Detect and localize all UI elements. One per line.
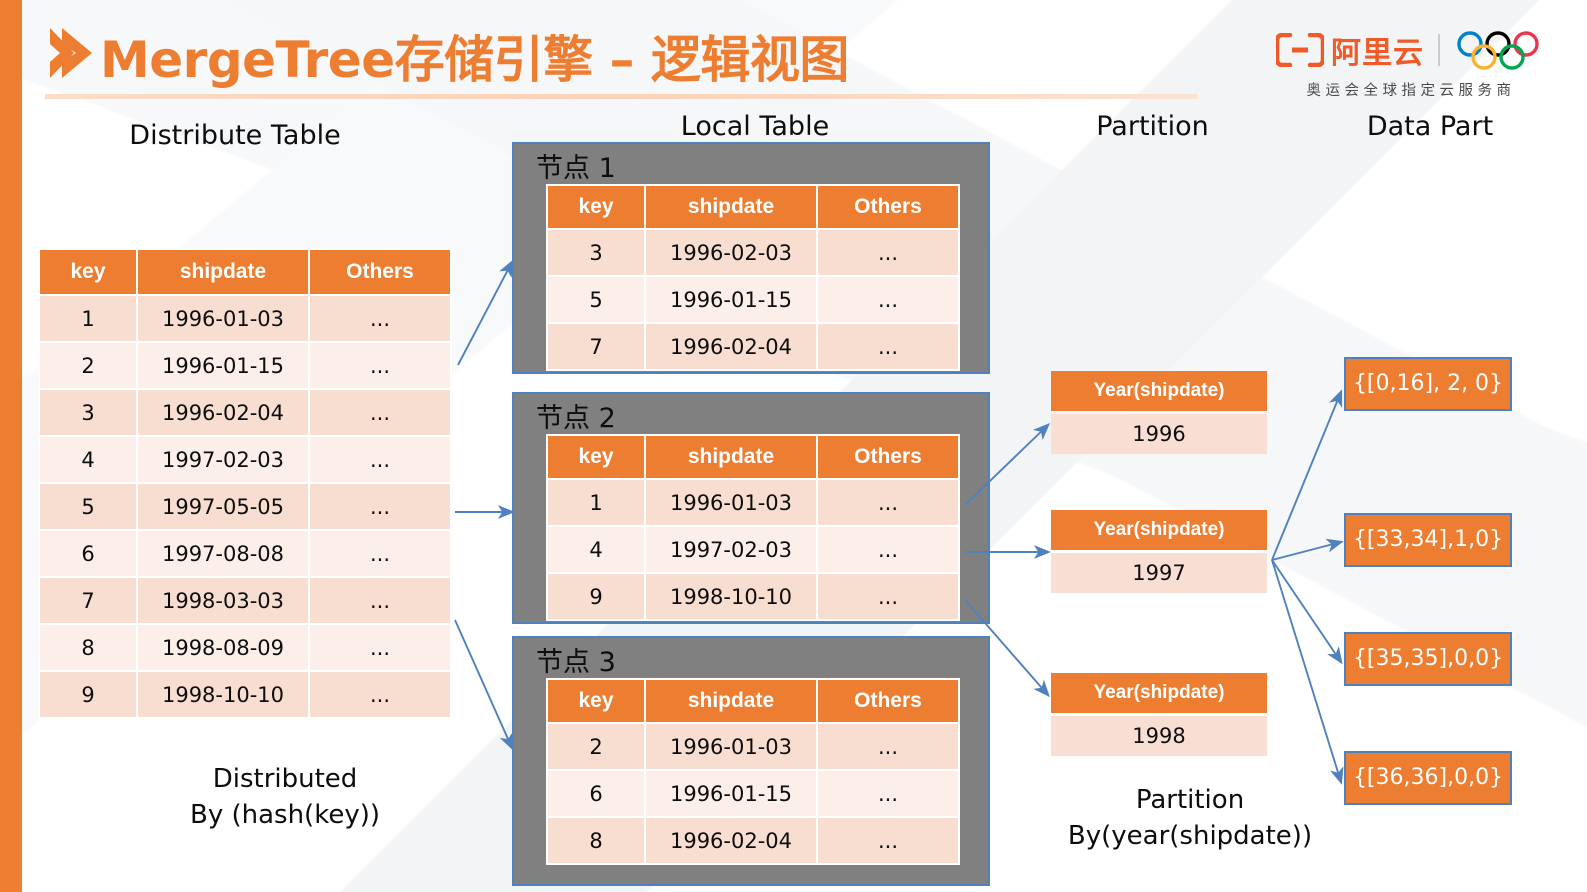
table-header-row: keyshipdateOthers [547,435,959,479]
table-cell: 1996-01-03 [645,479,817,526]
node-table-body-2: 11996-01-03...41997-02-03...91998-10-10.… [547,479,959,620]
table-cell: 3 [547,229,645,276]
partition-header: Year(shipdate) [1051,510,1267,550]
column-header-others: Others [817,679,959,723]
partition-header: Year(shipdate) [1051,673,1267,713]
table-row: 51997-05-05... [39,483,451,530]
node-box-1: 节点 1 keyshipdateOthers 31996-02-03...519… [512,142,990,374]
table-cell: ... [309,295,451,342]
partition-value: 1997 [1051,553,1267,593]
table-cell: 7 [39,577,137,624]
table-cell: 1997-02-03 [137,436,309,483]
table-cell: ... [817,573,959,620]
heading-local-table: Local Table [620,111,890,142]
data-part-chip: {[0,16], 2, 0} [1344,357,1512,411]
table-cell: 6 [547,770,645,817]
heading-partition: Partition [1030,111,1275,142]
node-table-2: keyshipdateOthers 11996-01-03...41997-02… [546,434,960,621]
heading-data-part: Data Part [1330,111,1530,142]
node-table-body-1: 31996-02-03...51996-01-15...71996-02-04.… [547,229,959,370]
table-cell: 3 [39,389,137,436]
data-part-chip: {[36,36],0,0} [1344,751,1512,805]
table-cell: ... [309,342,451,389]
table-cell: 1997-08-08 [137,530,309,577]
column-header-shipdate: shipdate [645,435,817,479]
table-cell: 9 [39,671,137,718]
table-cell: 8 [39,624,137,671]
table-row: 41997-02-03... [547,526,959,573]
caption-distributed-by: Distributed By (hash(key)) [120,762,450,834]
table-cell: 1996-02-03 [645,229,817,276]
brand-name: 阿里云 [1331,28,1424,72]
column-header-key: key [547,435,645,479]
table-cell: ... [817,479,959,526]
table-row: 71996-02-04... [547,323,959,370]
table-row: 61996-01-15... [547,770,959,817]
heading-distribute-table: Distribute Table [110,120,360,151]
table-row: 21996-01-03... [547,723,959,770]
partition-value: 1998 [1051,716,1267,756]
table-cell: 1998-10-10 [137,671,309,718]
table-header-row: keyshipdateOthers [547,185,959,229]
table-cell: 6 [39,530,137,577]
partition-value: 1996 [1051,414,1267,454]
node-table-3: keyshipdateOthers 21996-01-03...61996-01… [546,678,960,865]
table-cell: ... [817,229,959,276]
table-row: 91998-10-10... [547,573,959,620]
table-cell: 1996-01-15 [137,342,309,389]
table-header-row: keyshipdateOthers [39,249,451,295]
partition-box-1997: Year(shipdate) 1997 [1051,510,1267,593]
column-header-key: key [547,185,645,229]
node-table-1: keyshipdateOthers 31996-02-03...51996-01… [546,184,960,371]
caption-partition-by: Partition By(year(shipdate)) [1040,783,1340,855]
olympic-rings-icon [1454,29,1546,71]
brand-divider [1438,34,1440,66]
table-cell: 8 [547,817,645,864]
title-underline [45,94,1197,99]
column-header-others: Others [817,435,959,479]
table-row: 31996-02-03... [547,229,959,276]
table-cell: 1996-01-15 [645,770,817,817]
table-cell: 1996-01-03 [645,723,817,770]
table-cell: ... [817,323,959,370]
column-header-shipdate: shipdate [645,679,817,723]
node-table-body-3: 21996-01-03...61996-01-15...81996-02-04.… [547,723,959,864]
table-row: 91998-10-10... [39,671,451,718]
table-cell: 2 [39,342,137,389]
table-cell: 1998-03-03 [137,577,309,624]
table-row: 81996-02-04... [547,817,959,864]
table-row: 31996-02-04... [39,389,451,436]
table-cell: ... [817,276,959,323]
table-cell: 1997-02-03 [645,526,817,573]
table-cell: 1998-08-09 [137,624,309,671]
table-row: 11996-01-03... [547,479,959,526]
table-cell: 4 [39,436,137,483]
table-cell: ... [817,817,959,864]
data-part-chip: {[35,35],0,0} [1344,632,1512,686]
node-box-2: 节点 2 keyshipdateOthers 11996-01-03...419… [512,392,990,624]
table-cell: 4 [547,526,645,573]
partition-header: Year(shipdate) [1051,371,1267,411]
table-cell: ... [309,389,451,436]
table-row: 41997-02-03... [39,436,451,483]
table-cell: ... [309,483,451,530]
table-cell: ... [309,436,451,483]
table-row: 11996-01-03... [39,295,451,342]
table-cell: 5 [39,483,137,530]
table-cell: 1996-02-04 [645,323,817,370]
table-row: 61997-08-08... [39,530,451,577]
table-row: 51996-01-15... [547,276,959,323]
data-part-chip: {[33,34],1,0} [1344,513,1512,567]
table-cell: 1996-02-04 [645,817,817,864]
column-header-shipdate: shipdate [645,185,817,229]
table-cell: 5 [547,276,645,323]
distribute-table: keyshipdateOthers 11996-01-03...21996-01… [38,248,452,719]
table-header-row: keyshipdateOthers [547,679,959,723]
table-cell: 9 [547,573,645,620]
table-cell: ... [309,577,451,624]
table-cell: ... [817,526,959,573]
column-header-shipdate: shipdate [137,249,309,295]
table-cell: 1996-01-03 [137,295,309,342]
table-row: 81998-08-09... [39,624,451,671]
table-cell: ... [817,770,959,817]
chevron-right-icon [48,26,96,80]
column-header-others: Others [817,185,959,229]
node-box-3: 节点 3 keyshipdateOthers 21996-01-03...619… [512,636,990,886]
column-header-key: key [39,249,137,295]
table-cell: 1996-01-15 [645,276,817,323]
table-cell: 1998-10-10 [645,573,817,620]
brand-tagline: 奥运会全球指定云服务商 [1261,79,1561,100]
column-header-key: key [547,679,645,723]
brand-logo: 阿里云 奥运会全球指定云服务商 [1261,26,1561,98]
left-accent-bar [0,0,22,892]
table-cell: 7 [547,323,645,370]
table-cell: 1997-05-05 [137,483,309,530]
table-cell: ... [309,624,451,671]
node-label-1: 节点 1 [536,146,616,185]
table-cell: ... [817,723,959,770]
column-header-others: Others [309,249,451,295]
table-cell: 2 [547,723,645,770]
table-cell: 1996-02-04 [137,389,309,436]
table-cell: ... [309,671,451,718]
table-cell: 1 [547,479,645,526]
table-cell: ... [309,530,451,577]
table-cell: 1 [39,295,137,342]
partition-box-1996: Year(shipdate) 1996 [1051,371,1267,454]
table-row: 71998-03-03... [39,577,451,624]
alibaba-cloud-icon [1276,33,1324,67]
table-row: 21996-01-15... [39,342,451,389]
node-label-2: 节点 2 [536,396,616,435]
partition-box-1998: Year(shipdate) 1998 [1051,673,1267,756]
page-title: MergeTree存储引擎 – 逻辑视图 [100,20,849,92]
distribute-table-body: 11996-01-03...21996-01-15...31996-02-04.… [39,295,451,718]
node-label-3: 节点 3 [536,640,616,679]
